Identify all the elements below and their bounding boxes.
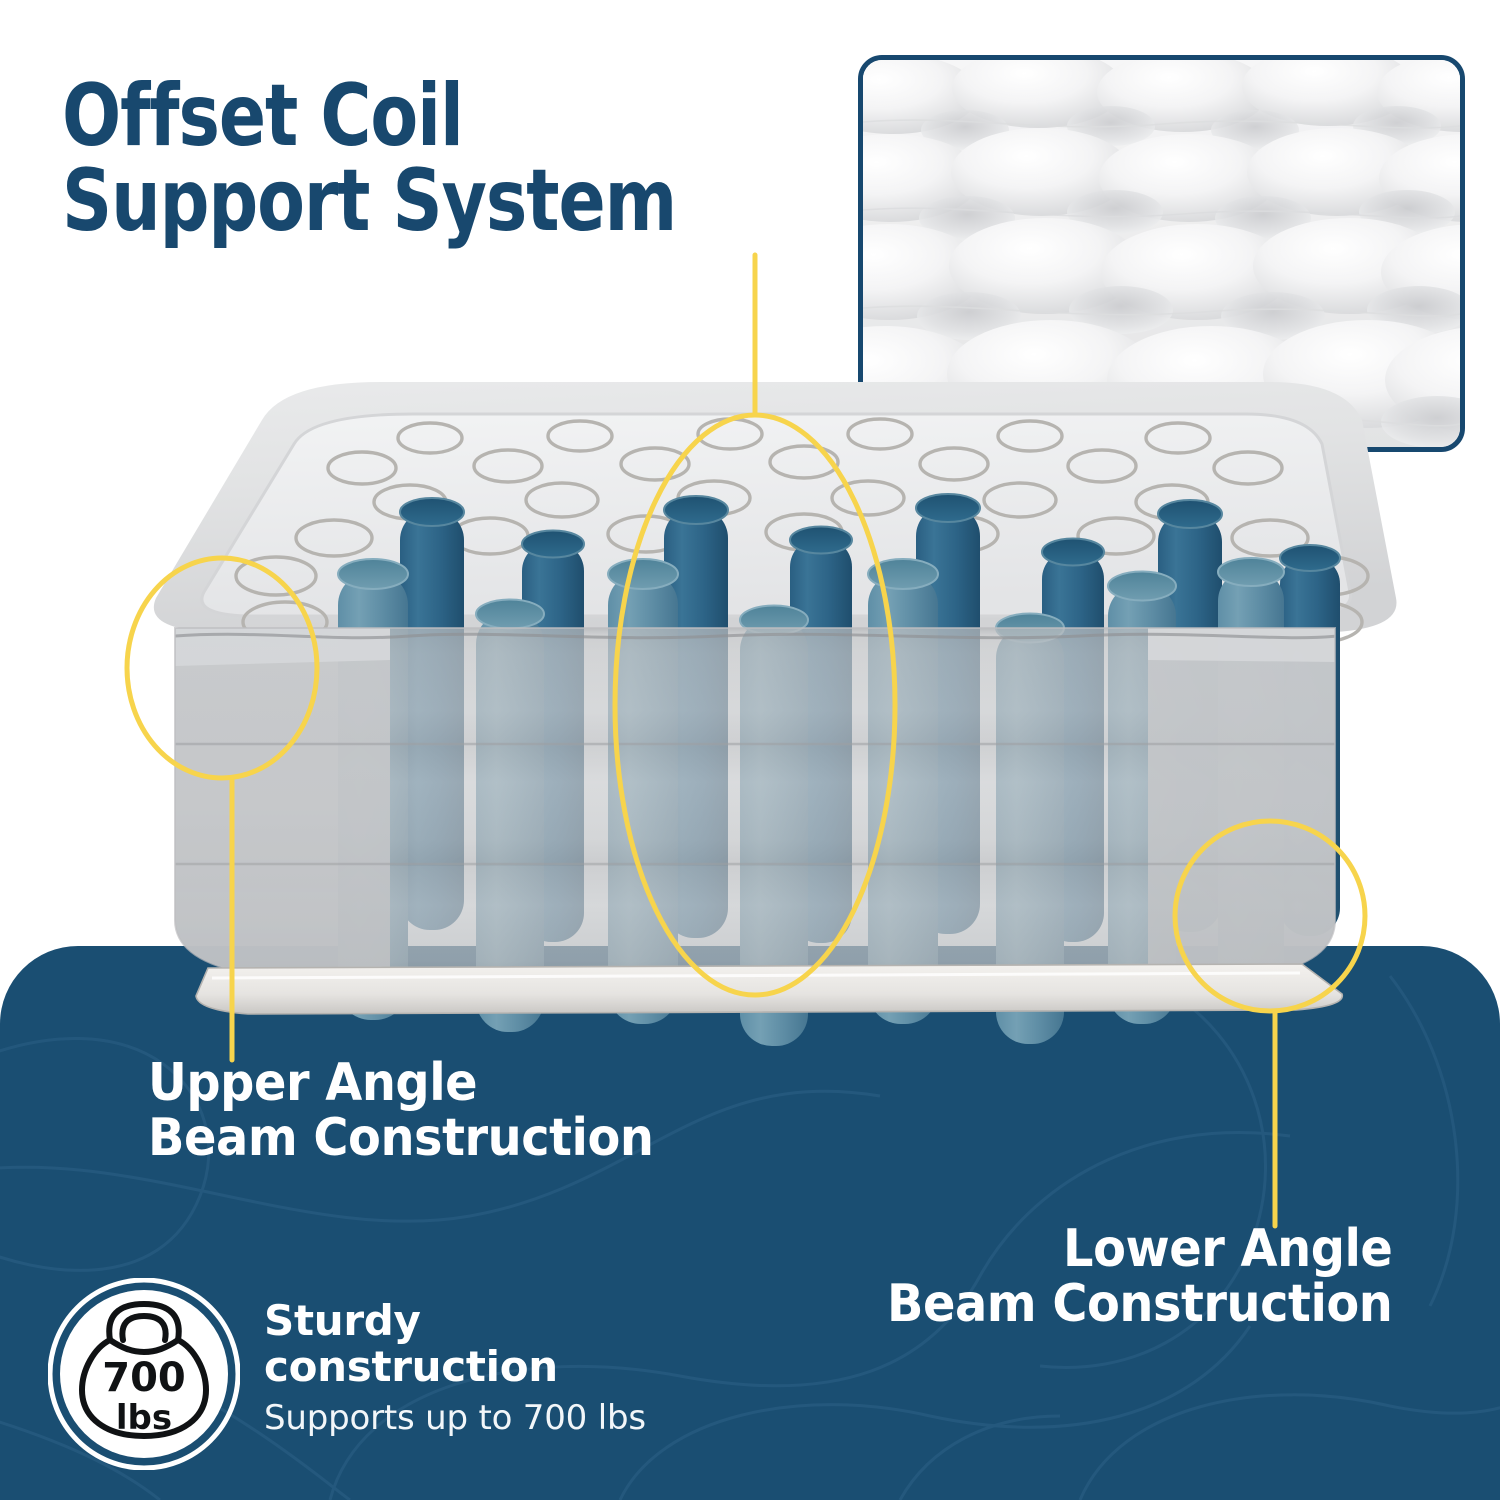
badge-text-block: Sturdy construction Supports up to 700 l…	[264, 1298, 684, 1438]
badge-title-line1: Sturdy	[264, 1296, 421, 1345]
label-upper-line2: Beam Construction	[148, 1111, 653, 1166]
page-title-line2: Support System	[62, 159, 773, 244]
page-title: Offset Coil Support System	[62, 74, 773, 244]
label-upper-line1: Upper Angle	[148, 1053, 477, 1113]
mattress-cutaway-illustration	[80, 360, 1430, 1080]
badge-title: Sturdy construction	[264, 1298, 684, 1390]
kettlebell-icon: 700 lbs	[48, 1278, 240, 1470]
infographic-canvas: Offset Coil Support System	[0, 0, 1500, 1500]
mattress-body-layers	[170, 628, 1340, 978]
badge-title-line2: construction	[264, 1344, 684, 1390]
label-lower-line2: Beam Construction	[887, 1277, 1392, 1332]
label-upper-angle-beam: Upper Angle Beam Construction	[148, 1056, 653, 1166]
label-lower-line1: Lower Angle	[1063, 1219, 1392, 1279]
mattress-base-sheet	[196, 964, 1342, 1014]
badge-weight-unit: lbs	[116, 1398, 172, 1438]
badge-subtitle: Supports up to 700 lbs	[264, 1398, 684, 1438]
badge-weight-value: 700	[102, 1355, 186, 1401]
sturdy-construction-badge: 700 lbs Sturdy construction Supports up …	[48, 1278, 688, 1478]
label-lower-angle-beam: Lower Angle Beam Construction	[887, 1222, 1392, 1332]
weight-capacity-badge: 700 lbs	[48, 1278, 240, 1470]
